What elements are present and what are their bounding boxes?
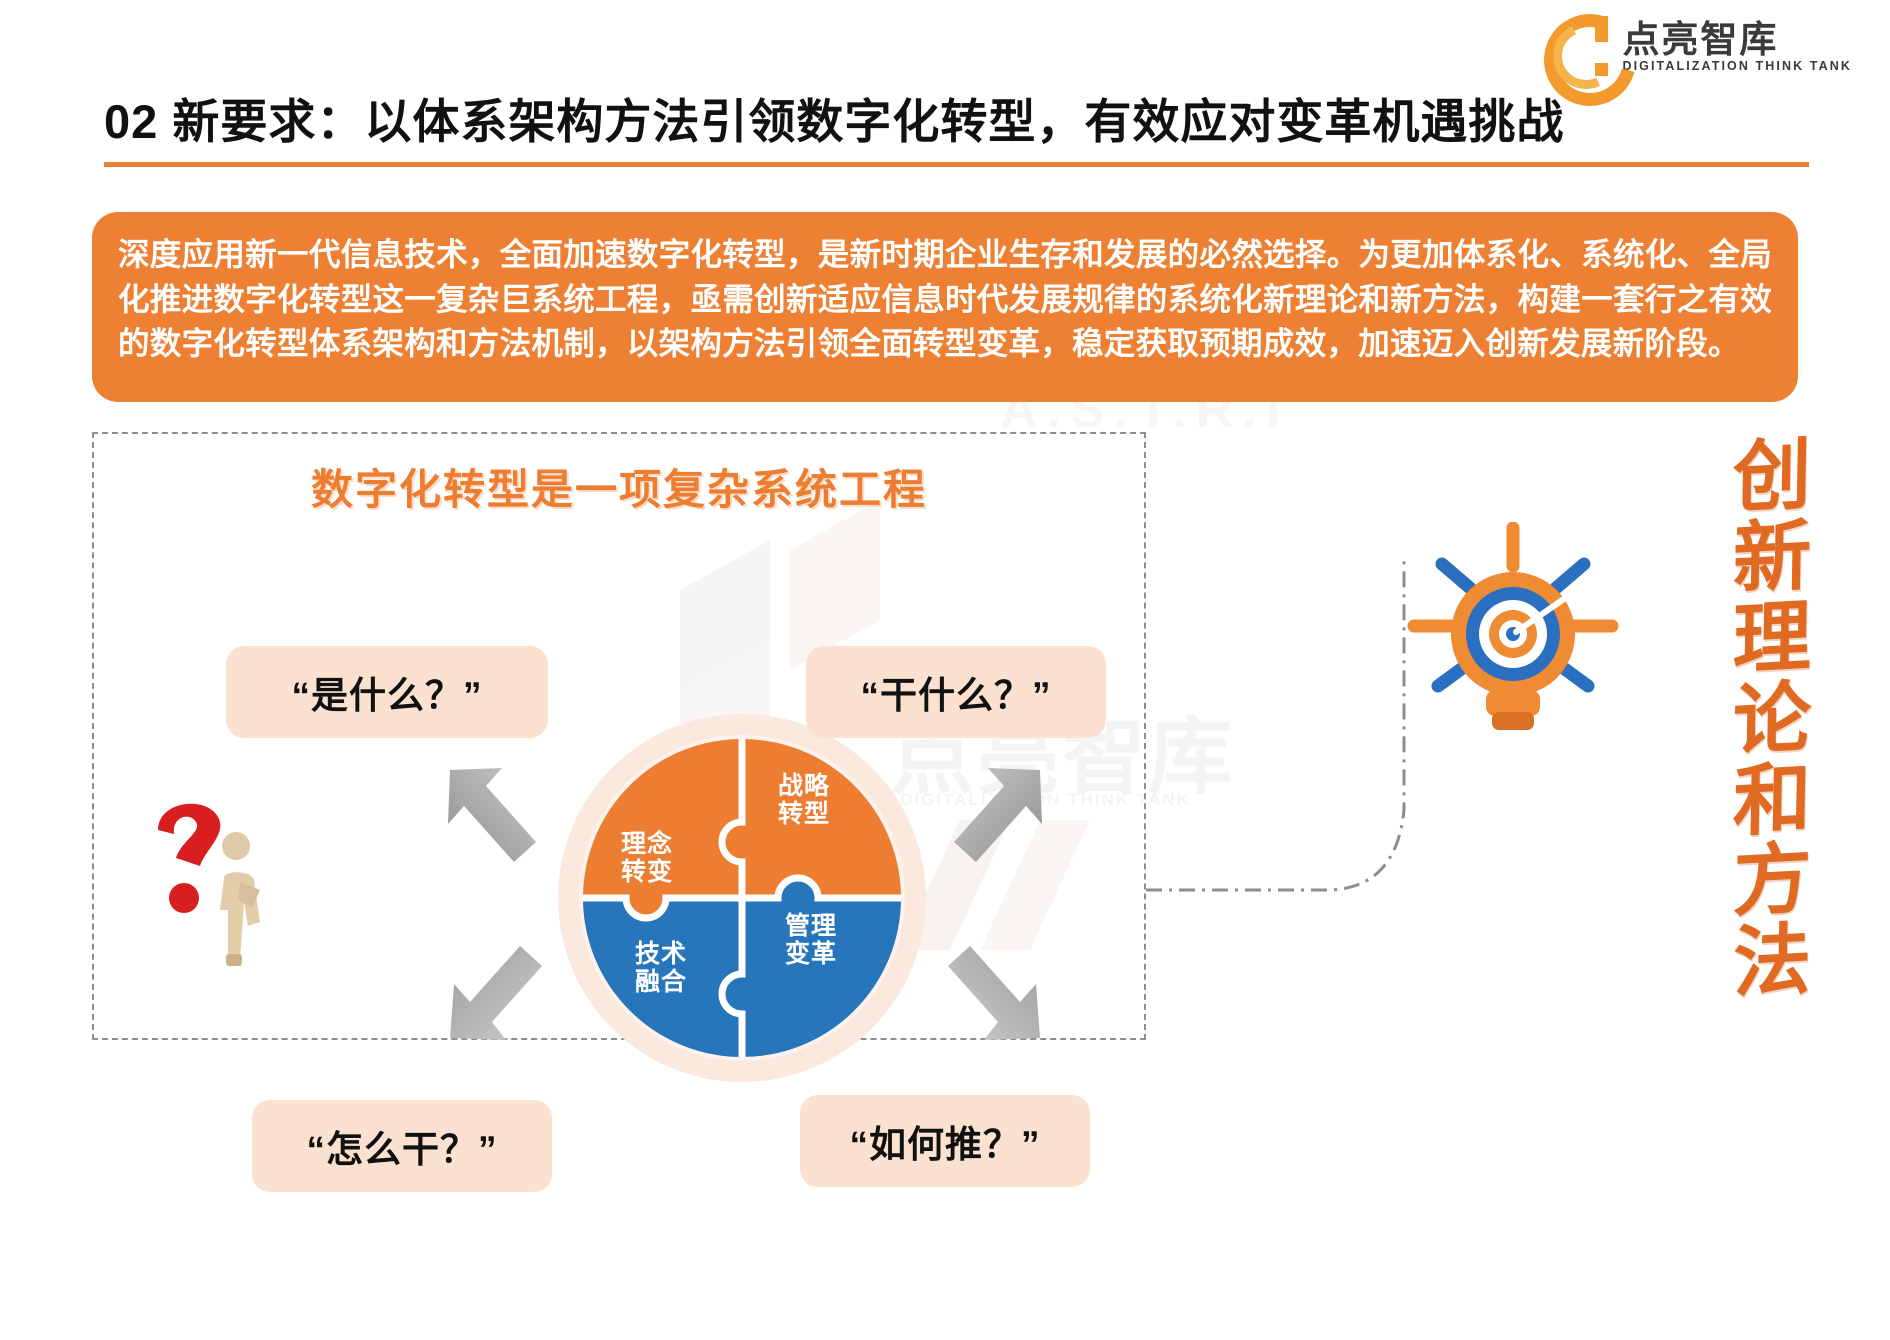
calligraphy-char-5: 和	[1732, 762, 1812, 841]
calligraphy-char-4: 论	[1732, 681, 1812, 760]
logo-name-cn: 点亮智库	[1622, 21, 1852, 58]
diagram-panel-title: 数字化转型是一项复杂系统工程	[94, 456, 1144, 517]
title-underline-rule	[104, 162, 1809, 167]
question-box-do[interactable]: “干什么？”	[806, 646, 1106, 738]
question-box-how[interactable]: “怎么干？”	[252, 1100, 552, 1192]
c-swirl-logo-icon	[1544, 14, 1610, 80]
question-box-promote[interactable]: “如何推？”	[800, 1095, 1090, 1187]
summary-callout-text: 深度应用新一代信息技术，全面加速数字化转型，是新时期企业生存和发展的必然选择。为…	[118, 232, 1772, 366]
calligraphy-column: 创 新 理 论 和 方 法	[1712, 440, 1832, 1000]
page-title: 02 新要求：以体系架构方法引领数字化转型，有效应对变革机遇挑战	[104, 96, 1804, 148]
gray-arrow-downright-icon	[940, 930, 1050, 1060]
puzzle-label-zhanlue: 战略 转型	[761, 772, 847, 828]
puzzle-circle-diagram: 理念 转变 战略 转型 技术 融合 管理 变革	[556, 712, 928, 1084]
question-box-do-label: “干什么？”	[861, 665, 1052, 719]
logo-wordmark: 点亮智库 DIGITALIZATION THINK TANK	[1622, 21, 1852, 73]
gray-arrow-upleft-icon	[440, 750, 550, 880]
title-block: 02 新要求：以体系架构方法引领数字化转型，有效应对变革机遇挑战	[104, 96, 1804, 167]
calligraphy-char-7: 法	[1732, 923, 1812, 1002]
brand-logo: 点亮智库 DIGITALIZATION THINK TANK	[1544, 14, 1852, 80]
summary-callout-box: 深度应用新一代信息技术，全面加速数字化转型，是新时期企业生存和发展的必然选择。为…	[92, 212, 1798, 402]
gray-arrow-downleft-icon	[440, 930, 550, 1060]
gray-arrow-upright-icon	[940, 750, 1050, 880]
question-box-promote-label: “如何推？”	[850, 1114, 1041, 1168]
question-box-how-label: “怎么干？”	[307, 1119, 498, 1173]
calligraphy-char-2: 新	[1732, 519, 1812, 598]
puzzle-label-linian: 理念 转变	[604, 830, 690, 886]
calligraphy-char-1: 创	[1732, 438, 1812, 517]
question-box-what[interactable]: “是什么？”	[226, 646, 548, 738]
dashed-connector-line	[1146, 560, 1414, 950]
question-mark-thinker-icon	[140, 790, 290, 990]
puzzle-label-guanli: 管理 变革	[768, 912, 854, 968]
puzzle-piece-guanli	[722, 878, 908, 1064]
lightbulb-target-icon	[1398, 522, 1628, 742]
calligraphy-char-3: 理	[1732, 600, 1812, 679]
logo-name-en: DIGITALIZATION THINK TANK	[1622, 60, 1852, 73]
question-box-what-label: “是什么？”	[292, 665, 483, 719]
calligraphy-char-6: 方	[1732, 842, 1812, 921]
puzzle-label-jishu: 技术 融合	[618, 940, 704, 996]
